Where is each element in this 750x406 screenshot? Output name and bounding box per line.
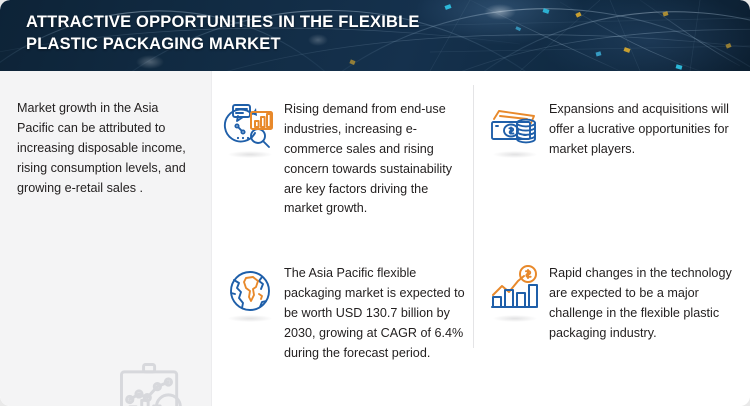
item-text: Expansions and acquisitions will offer a… xyxy=(549,99,735,160)
item-expansions-acquisitions: Expansions and acquisitions will offer a… xyxy=(487,99,739,160)
icon-shadow xyxy=(228,151,272,158)
column-divider-left xyxy=(211,71,212,406)
item-rising-demand: Rising demand from end-use industries, i… xyxy=(222,99,470,219)
chart-analysis-percent-icon xyxy=(222,99,278,155)
globe-icon xyxy=(222,263,278,319)
item-text: The Asia Pacific flexible packaging mark… xyxy=(284,263,466,363)
item-market-forecast: The Asia Pacific flexible packaging mark… xyxy=(222,263,470,363)
item-text: Rapid changes in the technology are expe… xyxy=(549,263,735,344)
left-panel-paragraph: Market growth in the Asia Pacific can be… xyxy=(17,99,193,198)
left-summary-panel: Market growth in the Asia Pacific can be… xyxy=(0,71,211,406)
infographic-container: ATTRACTIVE OPPORTUNITIES IN THE FLEXIBLE… xyxy=(0,0,750,406)
content-area: Market growth in the Asia Pacific can be… xyxy=(0,71,750,406)
column-divider-right xyxy=(473,85,474,348)
cash-coins-icon xyxy=(487,99,543,155)
page-title: ATTRACTIVE OPPORTUNITIES IN THE FLEXIBLE… xyxy=(26,11,496,56)
header-banner: ATTRACTIVE OPPORTUNITIES IN THE FLEXIBLE… xyxy=(0,0,750,71)
icon-shadow xyxy=(493,151,537,158)
item-technology-changes: Rapid changes in the technology are expe… xyxy=(487,263,739,344)
icon-shadow xyxy=(493,315,537,322)
item-text: Rising demand from end-use industries, i… xyxy=(284,99,466,219)
growth-bar-chart-dollar-icon xyxy=(487,263,543,319)
presentation-chart-magnifier-icon xyxy=(104,359,196,406)
icon-shadow xyxy=(228,315,272,322)
